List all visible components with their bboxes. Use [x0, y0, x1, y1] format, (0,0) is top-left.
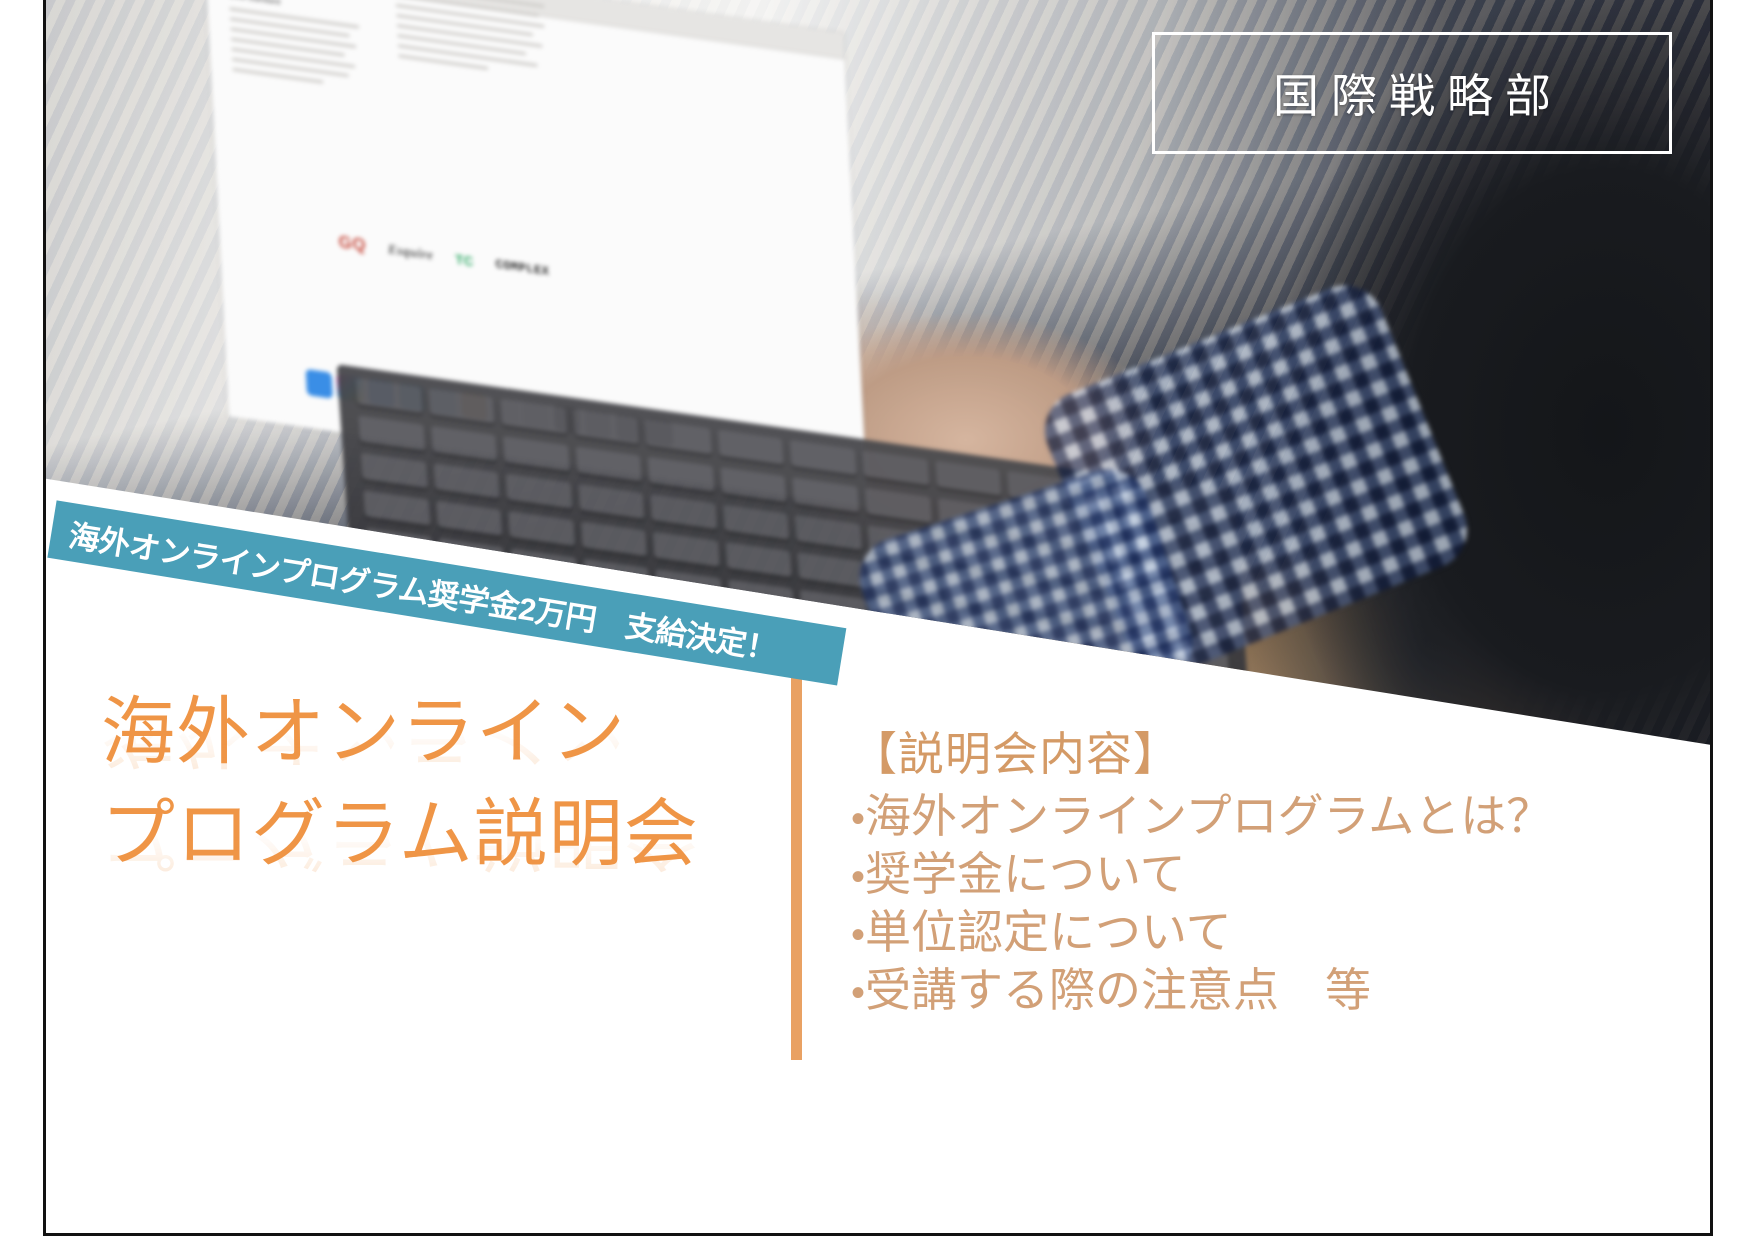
list-item: •受講する際の注意点 等 [851, 962, 1681, 1020]
list-item-label: 単位認定について [865, 906, 1232, 958]
browser-article-column-left: Gold Standard [228, 0, 362, 96]
brand-logo-row: GQ Esquire TC COMPLEX [338, 232, 550, 282]
department-badge-label: 国際戦略部 [1261, 60, 1563, 126]
lower-content: 海外オンライン プログラム説明会 【説明会内容】 •海外オンラインプログラムとは… [46, 660, 1710, 1236]
page-title-line-2: プログラム説明会 [101, 792, 751, 876]
list-item: •単位認定について [851, 904, 1681, 962]
list-item: •海外オンラインプログラムとは？ [851, 788, 1681, 846]
agenda-heading: 【説明会内容】 [851, 718, 1681, 784]
bullet-icon: • [851, 797, 865, 841]
department-badge: 国際戦略部 [1152, 32, 1672, 154]
page-title-line-1: 海外オンライン [101, 690, 751, 774]
list-item-label: 受講する際の注意点 等 [865, 964, 1371, 1016]
list-item-label: 海外オンラインプログラムとは？ [865, 790, 1552, 842]
poster-slide: Gold Standard GQ Esquire TC COMPLEX [43, 0, 1713, 1236]
browser-article-column-right [395, 0, 549, 86]
techcrunch-logo: TC [455, 251, 474, 269]
list-item: •奨学金について [851, 846, 1681, 904]
list-item-label: 奨学金について [865, 848, 1186, 900]
esquire-logo: Esquire [388, 241, 434, 264]
vertical-divider [791, 660, 802, 1060]
complex-logo: COMPLEX [495, 257, 550, 279]
bullet-icon: • [851, 913, 865, 957]
page-title: 海外オンライン プログラム説明会 [101, 690, 751, 877]
agenda-section: 【説明会内容】 •海外オンラインプログラムとは？ •奨学金について •単位認定に… [851, 718, 1681, 1020]
browser-article-title: Gold Standard [228, 0, 358, 18]
bullet-icon: • [851, 855, 865, 899]
bullet-icon: • [851, 971, 865, 1015]
gq-logo: GQ [338, 232, 366, 256]
hero-photo: Gold Standard GQ Esquire TC COMPLEX [46, 0, 1710, 760]
dock-icon-messages [306, 369, 333, 399]
